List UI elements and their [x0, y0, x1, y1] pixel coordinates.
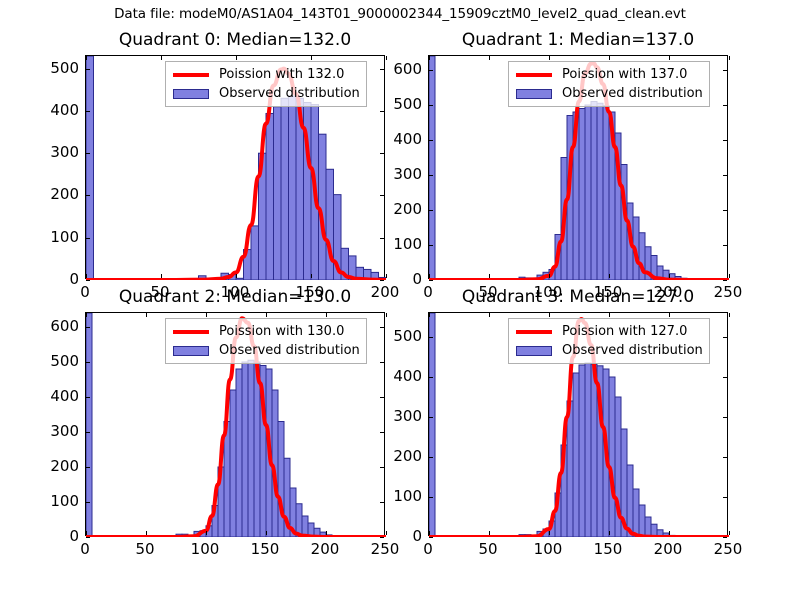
- y-tick-label: 500: [50, 352, 79, 370]
- legend-patch-swatch-icon: [514, 87, 554, 101]
- x-tick-label: 0: [423, 540, 433, 558]
- subplot-title-quadrant-3: Quadrant 3: Median=127.0: [428, 287, 728, 307]
- x-tick-label: 0: [80, 283, 90, 301]
- y-tick: [86, 153, 90, 154]
- matplotlib-figure: Data file: modeM0/AS1A04_143T01_90000023…: [0, 0, 800, 600]
- histogram-bar: [585, 363, 591, 537]
- x-tick-top: [86, 313, 87, 317]
- y-tick-label: 100: [50, 228, 79, 246]
- y-tick-right: [380, 280, 384, 281]
- x-tick-top: [729, 56, 730, 60]
- y-tick-right: [723, 70, 727, 71]
- y-tick-label: 300: [50, 422, 79, 440]
- histogram-bar: [251, 226, 259, 280]
- y-tick: [429, 417, 433, 418]
- y-tick-right: [723, 175, 727, 176]
- x-tick-label: 150: [296, 283, 325, 301]
- y-tick-right: [380, 432, 384, 433]
- x-tick: [86, 531, 87, 535]
- y-tick-right: [723, 417, 727, 418]
- legend-line-swatch-icon: [171, 68, 211, 82]
- y-tick-label: 200: [50, 457, 79, 475]
- y-tick-label: 100: [393, 487, 422, 505]
- x-tick-label: 0: [80, 540, 90, 558]
- legend-label-poisson: Poission with 127.0: [562, 325, 703, 338]
- x-tick-top: [609, 56, 610, 60]
- y-tick: [86, 432, 90, 433]
- x-tick-label: 0: [423, 283, 433, 301]
- legend-quadrant-1[interactable]: Poission with 137.0Observed distribution: [508, 61, 710, 107]
- histogram-bar: [236, 278, 244, 280]
- histogram-bar: [281, 98, 289, 280]
- y-tick-right: [380, 153, 384, 154]
- x-tick: [609, 531, 610, 535]
- y-tick-label: 400: [393, 130, 422, 148]
- x-tick-top: [429, 313, 430, 317]
- x-tick: [429, 274, 430, 278]
- y-tick-right: [723, 337, 727, 338]
- legend-patch-swatch-icon: [171, 344, 211, 358]
- legend-label-observed: Observed distribution: [219, 87, 360, 100]
- y-tick: [86, 195, 90, 196]
- x-tick-top: [161, 56, 162, 60]
- y-tick-label: 300: [393, 165, 422, 183]
- x-tick-top: [729, 313, 730, 317]
- legend-quadrant-2[interactable]: Poission with 130.0Observed distribution: [165, 318, 367, 364]
- y-tick: [86, 362, 90, 363]
- x-tick: [489, 274, 490, 278]
- histogram-bar: [567, 401, 573, 537]
- legend-label-observed: Observed distribution: [562, 87, 703, 100]
- legend-quadrant-0[interactable]: Poission with 132.0Observed distribution: [165, 61, 367, 107]
- y-tick: [429, 377, 433, 378]
- x-tick-top: [311, 56, 312, 60]
- x-tick-label: 50: [135, 540, 154, 558]
- legend-entry-observed: Observed distribution: [171, 341, 360, 360]
- y-tick-label: 200: [50, 185, 79, 203]
- x-tick-label: 50: [478, 540, 497, 558]
- x-tick-label: 150: [251, 540, 280, 558]
- x-tick: [386, 274, 387, 278]
- legend-line-swatch-icon: [514, 325, 554, 339]
- x-tick-top: [386, 313, 387, 317]
- x-tick-label: 100: [191, 540, 220, 558]
- y-tick-right: [380, 238, 384, 239]
- x-tick-label: 200: [311, 540, 340, 558]
- histogram-bar: [639, 505, 645, 537]
- y-tick-right: [380, 502, 384, 503]
- y-tick: [86, 238, 90, 239]
- x-tick-label: 250: [371, 540, 400, 558]
- legend-entry-observed: Observed distribution: [171, 84, 360, 103]
- y-tick: [429, 497, 433, 498]
- y-tick-label: 300: [50, 143, 79, 161]
- x-tick: [326, 531, 327, 535]
- x-tick-label: 150: [594, 540, 623, 558]
- histogram-bar: [429, 56, 435, 280]
- y-tick: [429, 105, 433, 106]
- y-tick: [86, 111, 90, 112]
- x-tick: [549, 274, 550, 278]
- x-tick-top: [669, 56, 670, 60]
- y-tick-right: [380, 537, 384, 538]
- y-tick-label: 500: [50, 59, 79, 77]
- y-tick-label: 500: [393, 327, 422, 345]
- histogram-bar: [591, 364, 597, 537]
- x-tick-top: [609, 313, 610, 317]
- x-tick-label: 200: [371, 283, 400, 301]
- y-tick: [86, 467, 90, 468]
- histogram-bar: [573, 373, 579, 537]
- histogram-bar: [579, 109, 585, 281]
- x-tick: [266, 531, 267, 535]
- y-tick-right: [380, 362, 384, 363]
- y-tick-right: [723, 245, 727, 246]
- x-tick: [386, 531, 387, 535]
- y-tick-right: [380, 111, 384, 112]
- histogram-bar: [224, 422, 230, 538]
- x-tick-top: [429, 56, 430, 60]
- x-tick: [236, 274, 237, 278]
- y-tick-label: 400: [50, 387, 79, 405]
- histogram-bar: [579, 365, 585, 537]
- x-tick-top: [326, 313, 327, 317]
- histogram-bar: [326, 169, 334, 280]
- x-tick-top: [206, 313, 207, 317]
- y-tick-label: 300: [393, 407, 422, 425]
- legend-entry-observed: Observed distribution: [514, 341, 703, 360]
- histogram-bar: [242, 362, 248, 537]
- histogram-bar: [86, 56, 94, 280]
- legend-label-poisson: Poission with 137.0: [562, 68, 703, 81]
- subplot-title-quadrant-1: Quadrant 1: Median=137.0: [428, 30, 728, 50]
- legend-label-poisson: Poission with 130.0: [219, 325, 360, 338]
- y-tick: [86, 397, 90, 398]
- y-tick-label: 200: [393, 200, 422, 218]
- y-tick-label: 600: [50, 317, 79, 335]
- x-tick: [729, 274, 730, 278]
- legend-label-observed: Observed distribution: [562, 344, 703, 357]
- histogram-bar: [609, 377, 615, 537]
- x-tick-top: [236, 56, 237, 60]
- x-tick: [146, 531, 147, 535]
- x-tick-label: 50: [150, 283, 169, 301]
- histogram-bar: [266, 113, 274, 280]
- x-tick-label: 150: [594, 283, 623, 301]
- legend-entry-poisson: Poission with 132.0: [171, 65, 360, 84]
- y-tick-label: 0: [69, 270, 79, 288]
- histogram-bar: [603, 106, 609, 280]
- x-tick: [549, 531, 550, 535]
- y-tick-label: 100: [393, 235, 422, 253]
- x-tick-top: [386, 56, 387, 60]
- x-tick-top: [489, 313, 490, 317]
- histogram-bar: [254, 362, 260, 537]
- x-tick-top: [549, 313, 550, 317]
- y-tick: [429, 175, 433, 176]
- y-tick: [86, 280, 90, 281]
- x-tick: [429, 531, 430, 535]
- histogram-bar: [591, 102, 597, 281]
- histogram-bar: [278, 422, 284, 538]
- x-tick: [669, 274, 670, 278]
- y-tick-right: [380, 195, 384, 196]
- y-tick-label: 0: [69, 527, 79, 545]
- y-tick-right: [723, 280, 727, 281]
- legend-line-swatch-icon: [514, 68, 554, 82]
- histogram-bar: [230, 390, 236, 537]
- y-tick-right: [723, 457, 727, 458]
- x-tick-top: [146, 313, 147, 317]
- y-tick: [86, 537, 90, 538]
- x-tick-label: 100: [534, 283, 563, 301]
- y-tick-right: [380, 69, 384, 70]
- histogram-bar: [248, 360, 254, 537]
- y-tick-label: 600: [393, 60, 422, 78]
- x-tick: [729, 531, 730, 535]
- y-tick: [429, 537, 433, 538]
- histogram-bar: [645, 517, 651, 537]
- y-tick-right: [723, 105, 727, 106]
- subplot-title-quadrant-0: Quadrant 0: Median=132.0: [85, 30, 385, 50]
- y-tick: [429, 210, 433, 211]
- y-tick-label: 400: [50, 101, 79, 119]
- legend-label-observed: Observed distribution: [219, 344, 360, 357]
- legend-entry-poisson: Poission with 130.0: [171, 322, 360, 341]
- legend-label-poisson: Poission with 132.0: [219, 68, 360, 81]
- y-tick: [429, 457, 433, 458]
- y-tick-right: [380, 327, 384, 328]
- legend-entry-poisson: Poission with 137.0: [514, 65, 703, 84]
- histogram-bar: [585, 105, 591, 280]
- y-tick-label: 0: [412, 270, 422, 288]
- y-tick: [86, 327, 90, 328]
- histogram-bar: [627, 465, 633, 537]
- y-tick-label: 200: [393, 447, 422, 465]
- y-tick-right: [723, 497, 727, 498]
- histogram-bar: [289, 96, 297, 280]
- y-tick-right: [723, 537, 727, 538]
- figure-suptitle: Data file: modeM0/AS1A04_143T01_90000023…: [0, 6, 800, 22]
- y-tick-label: 100: [50, 492, 79, 510]
- legend-patch-swatch-icon: [514, 344, 554, 358]
- x-tick-top: [86, 56, 87, 60]
- y-tick: [429, 140, 433, 141]
- y-tick-right: [380, 467, 384, 468]
- x-tick: [669, 531, 670, 535]
- x-tick-top: [266, 313, 267, 317]
- histogram-bar: [597, 103, 603, 280]
- y-tick-label: 500: [393, 95, 422, 113]
- y-tick: [429, 70, 433, 71]
- histogram-bar: [236, 369, 242, 537]
- y-tick-label: 0: [412, 527, 422, 545]
- histogram-bar: [429, 313, 435, 537]
- legend-patch-swatch-icon: [171, 87, 211, 101]
- x-tick-label: 100: [534, 540, 563, 558]
- y-tick-right: [380, 397, 384, 398]
- y-tick: [429, 280, 433, 281]
- legend-line-swatch-icon: [171, 325, 211, 339]
- y-tick: [429, 245, 433, 246]
- x-tick-label: 100: [221, 283, 250, 301]
- subplot-title-quadrant-2: Quadrant 2: Median=130.0: [85, 287, 385, 307]
- y-tick-label: 400: [393, 367, 422, 385]
- y-tick-right: [723, 140, 727, 141]
- x-tick-label: 250: [714, 283, 743, 301]
- x-tick-label: 200: [654, 540, 683, 558]
- histogram-bar: [274, 107, 282, 280]
- y-tick-right: [723, 210, 727, 211]
- x-tick: [206, 531, 207, 535]
- x-tick: [311, 274, 312, 278]
- x-tick-label: 50: [478, 283, 497, 301]
- x-tick-top: [669, 313, 670, 317]
- x-tick-top: [489, 56, 490, 60]
- y-tick: [86, 502, 90, 503]
- x-tick-label: 250: [714, 540, 743, 558]
- legend-quadrant-3[interactable]: Poission with 127.0Observed distribution: [508, 318, 710, 364]
- y-tick-right: [723, 377, 727, 378]
- x-tick: [86, 274, 87, 278]
- histogram-bar: [633, 489, 639, 537]
- y-tick: [86, 69, 90, 70]
- x-tick-top: [549, 56, 550, 60]
- x-tick: [609, 274, 610, 278]
- histogram-bar: [86, 313, 92, 537]
- x-tick: [161, 274, 162, 278]
- legend-entry-poisson: Poission with 127.0: [514, 322, 703, 341]
- x-tick: [489, 531, 490, 535]
- y-tick: [429, 337, 433, 338]
- x-tick-label: 200: [654, 283, 683, 301]
- legend-entry-observed: Observed distribution: [514, 84, 703, 103]
